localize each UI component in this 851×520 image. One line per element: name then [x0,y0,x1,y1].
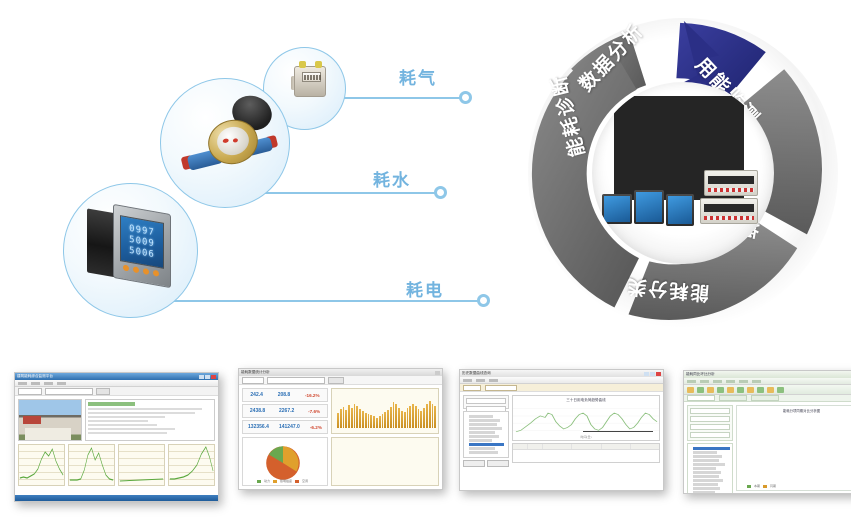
shot1-chart-electricity[interactable] [18,444,65,486]
shot3-titlebar: 历史数据曲线查询 [460,370,663,377]
shot1-menubar[interactable] [15,380,218,387]
kpi-value: 132356.4 [248,424,269,430]
shot2-filterbar[interactable] [239,376,442,385]
screenshot-energy-dashboard[interactable]: 能耗数据统计分析 242.4 208.8 -16.2% 2438.8 2267.… [238,368,443,490]
water-meter-icon [180,94,278,192]
kpi-compare: 2267.2 [279,408,294,414]
shot2-title: 能耗数据统计分析 [241,370,270,375]
legend-label: 本期 [754,484,760,488]
shot2-columns [332,438,438,485]
shot2-pie-legend: 动力 照明插座 空调 [257,479,308,483]
kpi-delta: -6.2% [310,425,322,430]
panel-meter-2-icon [634,190,664,224]
shot2-titlebar: 能耗数据统计分析 [239,369,442,376]
kpi-compare: 208.8 [278,392,291,398]
shot4-tabbar[interactable] [684,395,851,402]
shot3-subbar[interactable] [460,384,663,392]
shot1-chart-temperature[interactable] [168,444,215,486]
shot4-menubar[interactable] [684,378,851,385]
shot1-chart-gas[interactable] [118,444,165,486]
wheel-hub: 用电量统计分析 [592,82,774,264]
shot3-title: 历史数据曲线查询 [462,371,491,376]
kpi-delta: -16.2% [305,393,320,398]
shot3-filter-fields[interactable] [463,395,509,409]
shot3-trend-chart[interactable]: 三十日用电负荷趋势曲线 时间(日) [512,395,660,441]
shot1-title: 建筑能耗综合监测平台 [17,374,53,379]
shot2-trend-bars [332,389,438,433]
din-rail-meter-2-icon [700,198,758,224]
shot1-chart-water[interactable] [68,444,115,486]
shot2-kpi-row[interactable]: 242.4 208.8 -16.2% [242,388,328,402]
lead-label-gas: 耗气 [399,64,437,89]
pie-legend-label: 照明插座 [280,479,292,483]
lead-label-water: 耗水 [373,166,411,191]
shot4-query-fields[interactable] [687,405,733,441]
lead-dot-elec [477,294,490,307]
power-meter-icon: 0997 5009 5006 [87,205,179,291]
lead-dot-water [434,186,447,199]
shot2-pie-chart[interactable]: 动力 照明插座 空调 [242,437,328,486]
shot3-action-buttons[interactable] [463,460,509,467]
screenshot-trend-curve[interactable]: 历史数据曲线查询 [459,369,664,491]
pie-legend-label: 动力 [264,479,270,483]
screenshot-building-overview[interactable]: 建筑能耗综合监测平台 [14,372,219,502]
shot2-trend-bar-chart[interactable] [331,388,439,434]
lead-dot-gas [459,91,472,104]
power-meter-lcd: 0997 5009 5006 [120,215,164,269]
shot3-left-panel [463,395,509,463]
shot1-filterbar[interactable] [15,387,218,396]
kpi-delta: -7.6% [308,409,320,414]
shot2-kpi-row[interactable]: 2438.8 2267.2 -7.6% [242,404,328,418]
gas-meter-icon [291,60,329,100]
shot3-range-bar[interactable] [583,431,653,433]
legend-label: 同期 [770,484,776,488]
shot2-kpi-group: 242.4 208.8 -16.2% 2438.8 2267.2 -7.6% 1… [242,388,328,434]
shot4-item-tree[interactable] [687,443,733,494]
panel-meter-3-icon [666,194,694,226]
din-rail-meter-1-icon [704,170,758,196]
shot1-titlebar: 建筑能耗综合监测平台 [15,373,218,380]
shot1-statusbar [15,495,218,501]
kpi-value: 2438.8 [250,408,265,414]
lead-label-elec: 耗电 [406,276,444,301]
shot1-building-photo [18,399,82,441]
infographic-stage: 耗气 耗水 耗电 0997 5009 5006 [0,0,851,520]
shot2-kpi-row[interactable]: 132356.4 141247.0 -6.2% [242,420,328,434]
shot3-xlabel: 时间(日) [513,435,659,439]
panel-meter-1-icon [602,194,632,224]
screenshot-compare-bars[interactable]: 能耗同比环比分析 [683,370,851,494]
shot3-device-tree[interactable] [463,411,509,458]
shot4-titlebar: 能耗同比环比分析 [684,371,851,378]
shot3-menubar[interactable] [460,377,663,384]
shot4-compare-chart[interactable]: 能耗分项同期对比分析图 本期 同期 [736,405,851,491]
shot4-columns [737,406,851,490]
shot4-toolbar[interactable] [684,385,851,395]
pie-legend-label: 空调 [302,479,308,483]
shot3-data-table[interactable] [512,443,660,463]
shot1-info-panel [85,399,215,441]
shot2-column-chart[interactable] [331,437,439,486]
shot4-title: 能耗同比环比分析 [686,372,715,377]
shot4-left-panel [687,405,733,491]
kpi-compare: 141247.0 [279,424,300,430]
shot4-legend: 本期 同期 [747,484,776,488]
kpi-value: 242.4 [250,392,263,398]
